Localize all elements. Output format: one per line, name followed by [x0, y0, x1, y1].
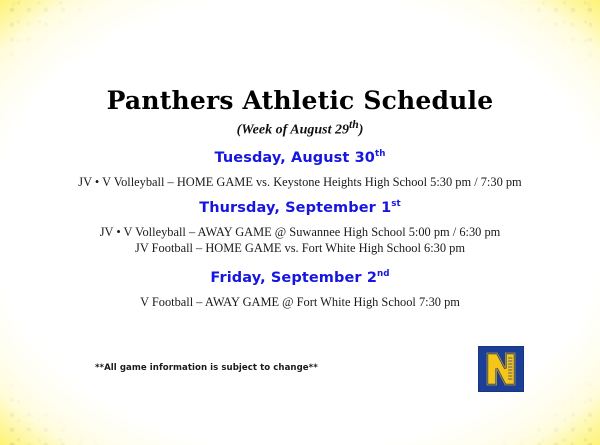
- subtitle-ordinal-suffix: th: [349, 118, 359, 131]
- event-line: JV • V Volleyball – AWAY GAME @ Suwannee…: [0, 224, 600, 241]
- day-heading: Friday, September 2nd: [0, 270, 600, 287]
- day-heading-text: Tuesday, August 30: [214, 150, 375, 166]
- day-heading-ordinal: st: [391, 199, 401, 209]
- day-heading-ordinal: nd: [377, 269, 390, 279]
- disclaimer-note: **All game information is subject to cha…: [95, 363, 318, 373]
- event-line: V Football – AWAY GAME @ Fort White High…: [0, 294, 600, 311]
- page-title: Panthers Athletic Schedule: [0, 86, 600, 115]
- event-line: JV • V Volleyball – HOME GAME vs. Keysto…: [0, 174, 600, 191]
- day-block: Thursday, September 1st JV • V Volleybal…: [0, 200, 600, 257]
- poster-content: Panthers Athletic Schedule (Week of Augu…: [0, 0, 600, 445]
- athletic-schedule-poster: Panthers Athletic Schedule (Week of Augu…: [0, 0, 600, 445]
- event-line: JV Football – HOME GAME vs. Fort White H…: [0, 240, 600, 257]
- day-heading-text: Friday, September 2: [210, 270, 377, 286]
- page-subtitle: (Week of August 29th): [0, 118, 600, 139]
- day-heading-text: Thursday, September 1: [199, 200, 391, 216]
- subtitle-prefix: (Week of August 29: [237, 123, 349, 138]
- subtitle-suffix: ): [359, 123, 364, 138]
- day-block: Tuesday, August 30th JV • V Volleyball –…: [0, 150, 600, 190]
- day-heading: Tuesday, August 30th: [0, 150, 600, 167]
- day-heading: Thursday, September 1st: [0, 200, 600, 217]
- school-logo-icon: [478, 346, 524, 392]
- day-block: Friday, September 2nd V Football – AWAY …: [0, 270, 600, 310]
- day-heading-ordinal: th: [375, 149, 386, 159]
